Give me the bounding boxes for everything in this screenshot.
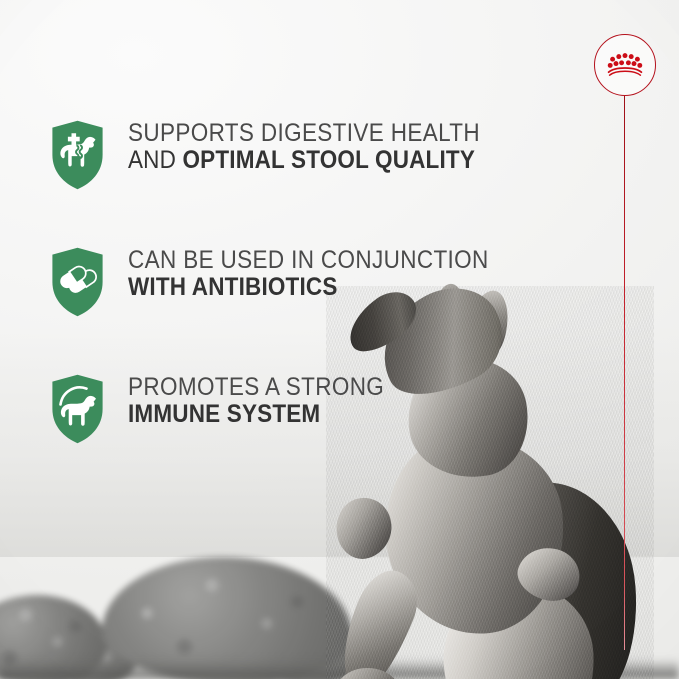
shield-dog-immune-icon <box>51 374 104 444</box>
benefit-line-light: SUPPORTS DIGESTIVE HEALTH <box>128 120 480 147</box>
benefit-text: CAN BE USED IN CONJUNCTION WITH ANTIBIOT… <box>128 247 529 301</box>
shield-dog-digestive-icon <box>51 120 104 190</box>
logo-vertical-rule <box>624 96 625 650</box>
benefit-line-bold-main: OPTIMAL STOOL QUALITY <box>182 146 475 174</box>
benefit-list: SUPPORTS DIGESTIVE HEALTH AND OPTIMAL ST… <box>51 112 521 493</box>
benefit-line-light: CAN BE USED IN CONJUNCTION <box>128 247 489 274</box>
product-benefits-panel: SUPPORTS DIGESTIVE HEALTH AND OPTIMAL ST… <box>0 0 679 679</box>
benefit-text: SUPPORTS DIGESTIVE HEALTH AND OPTIMAL ST… <box>128 120 519 174</box>
benefit-line-bold: IMMUNE SYSTEM <box>128 401 384 428</box>
benefit-line-bold-prefix: AND <box>128 146 182 174</box>
benefit-item-immune-system: PROMOTES A STRONG IMMUNE SYSTEM <box>51 366 521 493</box>
crown-circle-icon <box>605 50 645 80</box>
shield-capsules-icon <box>51 247 104 317</box>
benefit-line-bold: AND OPTIMAL STOOL QUALITY <box>128 147 480 174</box>
benefit-line-bold: WITH ANTIBIOTICS <box>128 274 489 301</box>
benefit-item-antibiotics: CAN BE USED IN CONJUNCTION WITH ANTIBIOT… <box>51 239 521 366</box>
benefit-line-light: PROMOTES A STRONG <box>128 374 384 401</box>
benefit-item-digestive-health: SUPPORTS DIGESTIVE HEALTH AND OPTIMAL ST… <box>51 112 521 239</box>
benefit-text: PROMOTES A STRONG IMMUNE SYSTEM <box>128 374 413 428</box>
royal-canin-logo <box>594 34 656 96</box>
